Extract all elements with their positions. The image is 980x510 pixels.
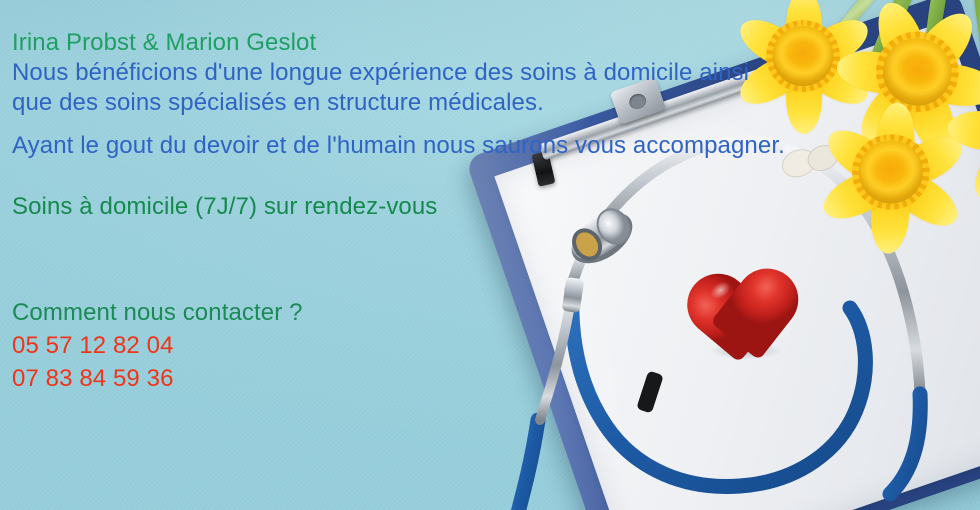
practitioner-names: Irina Probst & Marion Geslot: [12, 31, 316, 55]
phone-number-2[interactable]: 07 83 84 59 36: [12, 367, 174, 391]
banner: Irina Probst & Marion Geslot Nous bénéfi…: [0, 0, 980, 510]
availability-text: Soins à domicile (7J/7) sur rendez-vous: [12, 195, 437, 219]
text-block: Irina Probst & Marion Geslot Nous bénéfi…: [0, 0, 980, 510]
contact-heading: Comment nous contacter ?: [12, 301, 303, 325]
intro-line-3: Ayant le gout du devoir et de l'humain n…: [12, 134, 785, 158]
intro-line-2: que des soins spécialisés en structure m…: [12, 91, 544, 115]
intro-line-1: Nous bénéficions d'une longue expérience…: [12, 61, 749, 85]
phone-number-1[interactable]: 05 57 12 82 04: [12, 334, 174, 358]
